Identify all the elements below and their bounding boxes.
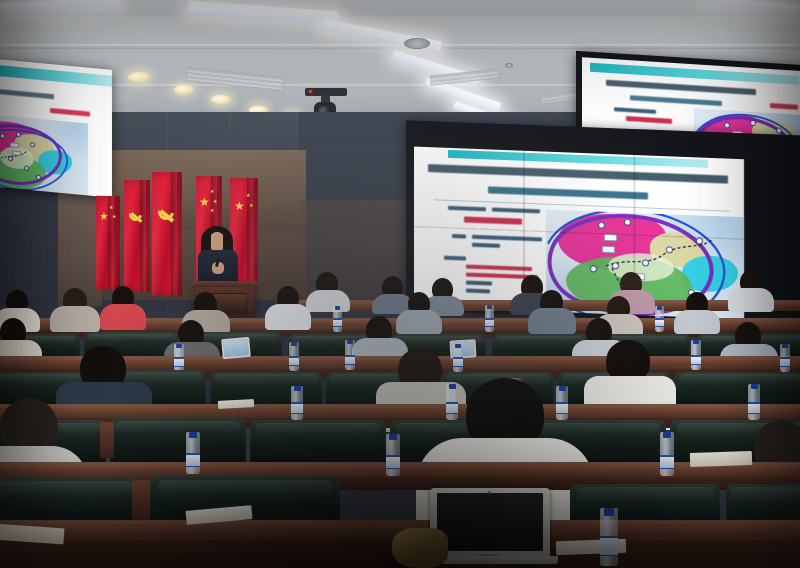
water-bottle [446, 384, 458, 420]
handbag [392, 528, 448, 568]
water-bottle [289, 342, 299, 371]
star-icon: ★ [109, 206, 113, 211]
national-flag-1: ★ ★ ★ [96, 196, 120, 290]
downlight [128, 72, 150, 82]
webcam-icon [488, 491, 491, 494]
water-bottle [660, 432, 674, 476]
downlight [174, 85, 194, 94]
party-flag-2 [152, 172, 182, 296]
left-slide [0, 58, 112, 198]
water-bottle [291, 386, 303, 420]
water-bottle [333, 306, 342, 332]
water-bottle [691, 340, 701, 370]
star-icon: ★ [99, 212, 109, 223]
star-icon: ★ [199, 196, 210, 208]
star-icon: ★ [249, 204, 253, 209]
water-bottle [386, 434, 400, 476]
left-projection-screen [0, 58, 112, 198]
water-bottle [780, 344, 790, 372]
left-map-routes [0, 114, 88, 197]
foreground-laptop[interactable] [430, 488, 550, 560]
star-icon: ★ [246, 194, 250, 199]
star-icon: ★ [234, 200, 245, 212]
slide-header-bar [448, 150, 708, 168]
sprinkler-head [505, 63, 513, 68]
slide-header-bar [0, 64, 112, 87]
water-bottle [174, 344, 184, 372]
star-icon: ★ [210, 190, 214, 195]
water-bottle [600, 508, 618, 566]
star-icon: ★ [112, 215, 116, 220]
water-bottle [748, 384, 760, 420]
party-flag-1 [124, 180, 150, 292]
water-bottle [485, 305, 494, 332]
water-bottle [556, 386, 568, 420]
ceiling-speaker [404, 38, 430, 49]
conference-hall-photo: ★ ★ ★ ★ ★ ★ ★ ★ ★ ★ [0, 0, 800, 568]
water-bottle [453, 344, 463, 372]
water-bottle [345, 340, 355, 370]
camera-record-led-icon [309, 90, 312, 93]
water-bottle [186, 432, 200, 474]
star-icon: ★ [210, 209, 214, 214]
water-bottle [655, 306, 664, 332]
paper-sheet [690, 451, 752, 467]
tablet-device [221, 337, 251, 359]
downlight [211, 95, 231, 104]
laptop-screen [437, 493, 543, 551]
star-icon: ★ [213, 200, 217, 205]
left-slide-map [0, 114, 88, 197]
